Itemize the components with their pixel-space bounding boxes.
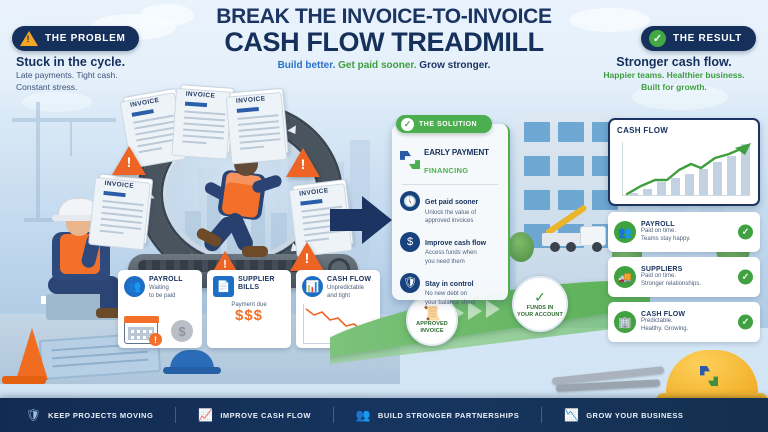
card-title-line1: SUPPLIER	[238, 276, 275, 284]
footer-label: BUILD STRONGER PARTNERSHIPS	[378, 411, 519, 420]
badge-label-line2: YOUR ACCOUNT	[517, 312, 563, 318]
tagline-part1: Build better.	[278, 60, 336, 71]
result-card-cash-flow: 🏢 CASH FLOW Predictable. Healthy. Growin…	[608, 302, 760, 342]
result-card-suppliers: 🚚 SUPPLIERS Paid on time. Stronger relat…	[608, 257, 760, 297]
result-sub-line1: Happier teams. Healthier business.	[594, 69, 754, 81]
invoice-document: INVOICE	[229, 88, 289, 158]
item-heading: Improve cash flow	[425, 240, 486, 247]
item-body-line1: No new debt on	[425, 291, 476, 299]
brand-logo-row: EARLY PAYMENT FINANCING	[400, 142, 500, 178]
tagline-part2: Get paid sooner.	[338, 60, 416, 71]
people-icon: 👥	[614, 221, 636, 243]
warning-triangle-icon	[112, 146, 146, 175]
invoice-document: INVOICE	[176, 84, 234, 154]
card-title: PAYROLL	[149, 276, 183, 284]
item-body-line2: your balance sheet	[425, 300, 476, 308]
clock-icon: 🕔	[400, 191, 420, 211]
alert-badge-icon: !	[149, 333, 162, 346]
invoice-label: INVOICE	[236, 95, 266, 105]
check-circle-icon: ✓	[534, 290, 546, 304]
invoice-dollar-icon: 📄	[213, 276, 234, 297]
warning-triangle-icon	[286, 148, 320, 177]
chart-title: CASH FLOW	[617, 126, 751, 135]
dollar-circle-icon: $	[400, 232, 420, 252]
bar-chart-icon: 📊	[302, 276, 323, 297]
tagline-part3: Grow stronger.	[419, 60, 490, 71]
item-heading: Stay in control	[425, 281, 474, 288]
brand-line1: EARLY PAYMENT	[424, 148, 489, 157]
result-sub-line2: Built for growth.	[594, 81, 754, 93]
footer-label: KEEP PROJECTS MOVING	[48, 411, 153, 420]
bar-chart-up-icon: 📈	[198, 408, 213, 423]
solution-item-get-paid-sooner: 🕔 Get paid sooner Unlock the value of ap…	[400, 191, 500, 226]
truck-icon: 🚚	[614, 266, 636, 288]
check-icon: ✓	[738, 270, 753, 285]
infographic-canvas: INVOICE INVOICE INVOICE INVOICE INVOICE	[0, 0, 768, 432]
footer-bar: 🛡 KEEP PROJECTS MOVING 📈 IMPROVE CASH FL…	[0, 398, 768, 432]
chevron-arrows-logo	[700, 366, 718, 386]
chevron-arrows-logo	[400, 150, 420, 170]
cash-flow-chart-card: CASH FLOW	[608, 118, 760, 206]
card-sub-line1: Predictable.	[641, 318, 688, 326]
divider	[333, 407, 334, 423]
title-line1: BREAK THE INVOICE-TO-INVOICE	[0, 6, 768, 28]
invoice-label: INVOICE	[130, 97, 160, 109]
problem-card-payroll: 👥 PAYROLL Waiting to be paid ! $	[118, 270, 202, 348]
item-body-line2: you need them	[425, 259, 486, 267]
chart-trend-line	[623, 142, 755, 200]
calendar-icon: !	[124, 316, 158, 344]
problem-sub-line2: Constant stress.	[16, 81, 125, 93]
check-icon: ✓	[738, 315, 753, 330]
card-sub-line1: Paid on time.	[641, 273, 701, 281]
page-title: BREAK THE INVOICE-TO-INVOICE CASH FLOW T…	[0, 6, 768, 71]
people-icon: 👥	[124, 276, 145, 297]
traffic-cone-illustration	[16, 328, 48, 380]
badge-label-line2: INVOICE	[420, 328, 443, 334]
traffic-cone-base	[2, 376, 46, 384]
result-cards-group: 👥 PAYROLL Paid on time. Teams stay happy…	[608, 212, 760, 347]
solution-pill: ✓ THE SOLUTION	[396, 115, 492, 133]
coin-icon: $	[171, 320, 193, 342]
item-body-line1: Access funds when	[425, 250, 486, 258]
solution-panel: ✓ THE SOLUTION EARLY PAYMENT FINANCING 🕔…	[392, 124, 510, 300]
card-sub-line2: Healthy. Growing.	[641, 326, 688, 334]
card-sub-line1: Waiting	[149, 285, 183, 293]
item-heading: Get paid sooner	[425, 199, 478, 206]
footer-label: IMPROVE CASH FLOW	[220, 411, 311, 420]
brand-line2: FINANCING	[424, 166, 468, 175]
result-card-payroll: 👥 PAYROLL Paid on time. Teams stay happy…	[608, 212, 760, 252]
footer-item-keep-projects-moving[interactable]: 🛡 KEEP PROJECTS MOVING	[26, 408, 175, 423]
card-title-line2: BILLS	[238, 284, 275, 292]
solution-pill-label: THE SOLUTION	[419, 121, 477, 128]
footer-item-build-stronger-partnerships[interactable]: 👥 BUILD STRONGER PARTNERSHIPS	[356, 408, 541, 423]
card-sub-line2: to be paid	[149, 293, 183, 301]
divider	[402, 184, 498, 185]
footer-item-grow-your-business[interactable]: 📉 GROW YOUR BUSINESS	[564, 408, 705, 423]
footer-label: GROW YOUR BUSINESS	[586, 411, 683, 420]
invoice-label: INVOICE	[299, 187, 329, 198]
divider	[541, 407, 542, 423]
warning-triangle-icon	[290, 242, 324, 271]
growth-chart-icon: 📉	[564, 408, 579, 423]
card-title: CASH FLOW	[641, 311, 688, 318]
badge-funds-in-account: ✓ FUNDS IN YOUR ACCOUNT	[512, 276, 568, 332]
crane-truck-illustration	[542, 222, 606, 252]
footer-item-improve-cash-flow[interactable]: 📈 IMPROVE CASH FLOW	[198, 408, 333, 423]
problem-card-supplier-bills: 📄 SUPPLIER BILLS Payment due $$$	[207, 270, 291, 348]
shield-check-icon: 🛡	[400, 273, 420, 293]
blue-helmet-illustration	[170, 350, 214, 374]
invoice-document: INVOICE	[93, 173, 154, 244]
invoice-approved-icon: 📜	[423, 306, 440, 320]
shield-icon: 🛡	[26, 408, 41, 423]
solution-item-stay-in-control: 🛡 Stay in control No new debt on your ba…	[400, 273, 500, 308]
wrench-tools-illustration	[552, 364, 672, 398]
chart-plot-area	[622, 142, 750, 196]
card-title: SUPPLIERS	[641, 266, 701, 273]
building-icon: 🏢	[614, 311, 636, 333]
invoice-label: INVOICE	[185, 91, 215, 100]
check-icon: ✓	[738, 225, 753, 240]
card-sub-line2: Stronger relationships.	[641, 281, 701, 289]
transition-arrow-icon	[330, 196, 392, 244]
card-sub-line2: Teams stay happy.	[641, 236, 691, 244]
title-line2: CASH FLOW TREADMILL	[0, 28, 768, 56]
card-title: PAYROLL	[641, 221, 691, 228]
item-body-line1: Unlock the value of	[425, 210, 478, 218]
solution-item-improve-cash-flow: $ Improve cash flow Access funds when yo…	[400, 232, 500, 267]
problem-sub-line1: Late payments. Tight cash.	[16, 69, 125, 81]
hard-hat-illustration	[666, 350, 758, 402]
item-body-line2: approved invoices	[425, 218, 478, 226]
card-sub-line1: Paid on time.	[641, 228, 691, 236]
amount-value: $$$	[213, 308, 285, 325]
check-circle-icon: ✓	[401, 118, 414, 131]
invoice-label: INVOICE	[104, 180, 134, 190]
tagline: Build better. Get paid sooner. Grow stro…	[0, 60, 768, 71]
people-icon: 👥	[356, 408, 371, 423]
divider	[175, 407, 176, 423]
